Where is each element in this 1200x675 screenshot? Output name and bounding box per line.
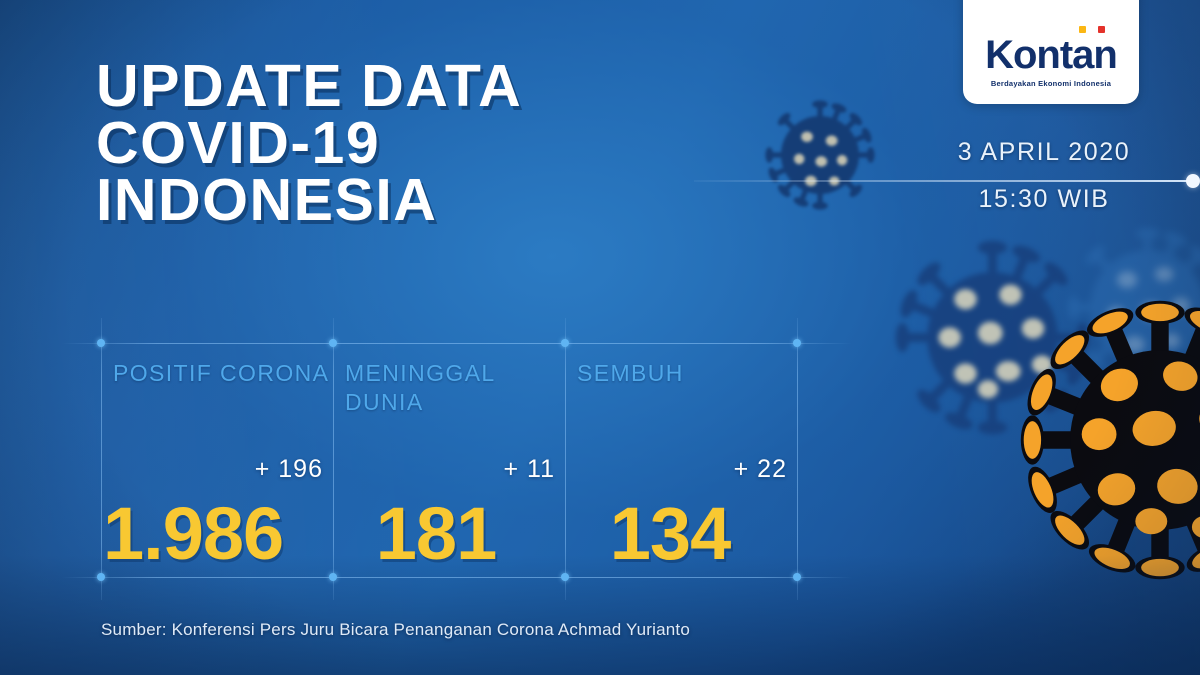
timestamp-time: 15:30 WIB <box>894 185 1194 214</box>
logo-dot-yellow-icon <box>1079 26 1086 33</box>
stat-label: MENINGGAL DUNIA <box>345 359 565 418</box>
timestamp-divider-line <box>694 180 1187 182</box>
stat-label: POSITIF CORONA <box>113 359 333 388</box>
stat-delta: + 22 <box>734 455 787 484</box>
logo-wordmark-text: Kontan <box>985 33 1117 77</box>
stat-value: 1.986 <box>101 497 325 571</box>
timestamp-block: 3 APRIL 2020 15:30 WIB <box>894 138 1194 214</box>
virus-particle-small-icon <box>755 90 885 220</box>
logo-tagline: Berdayakan Ekonomi Indonesia <box>991 79 1111 88</box>
virus-particle-faint-icon <box>1055 215 1200 400</box>
stat-value: 181 <box>333 497 557 571</box>
virus-particle-mid-icon <box>880 225 1105 450</box>
stat-card-meninggal-dunia: MENINGGAL DUNIA + 11 181 <box>333 343 565 577</box>
page-title-line-3: INDONESIA <box>96 172 522 229</box>
stat-label: SEMBUH <box>577 359 797 388</box>
virus-particle-large-icon <box>1015 295 1200 585</box>
page-title-line-1: UPDATE DATA <box>96 58 522 115</box>
logo-dot-red-icon <box>1098 26 1105 33</box>
stats-panel: POSITIF CORONA + 196 1.986 MENINGGAL DUN… <box>101 343 797 577</box>
kontan-logo[interactable]: Kontan Berdayakan Ekonomi Indonesia <box>963 0 1139 104</box>
stat-card-positif-corona: POSITIF CORONA + 196 1.986 <box>101 343 333 577</box>
page-title-line-2: COVID-19 <box>96 115 522 172</box>
logo-wordmark: Kontan <box>985 35 1117 75</box>
stat-delta: + 11 <box>504 455 556 484</box>
stat-delta: + 196 <box>255 455 323 484</box>
timestamp-date: 3 APRIL 2020 <box>894 138 1194 167</box>
infographic-canvas: UPDATE DATA COVID-19 INDONESIA Kontan Be… <box>0 0 1200 675</box>
stat-value: 134 <box>565 497 789 571</box>
grid-line-col-3 <box>797 318 798 600</box>
grid-line-bottom <box>62 577 852 578</box>
source-note: Sumber: Konferensi Pers Juru Bicara Pena… <box>101 620 690 640</box>
stat-card-sembuh: SEMBUH + 22 134 <box>565 343 797 577</box>
page-title: UPDATE DATA COVID-19 INDONESIA <box>96 58 522 230</box>
